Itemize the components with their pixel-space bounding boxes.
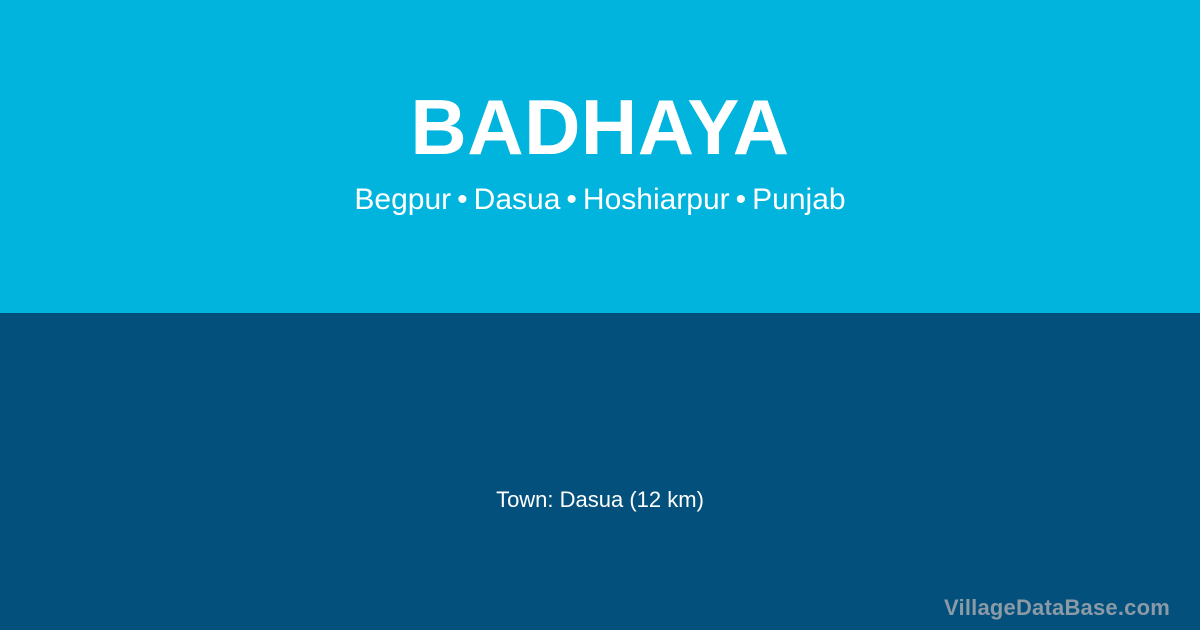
breadcrumb-item-district: Hoshiarpur [583,183,730,216]
breadcrumb: Begpur•Dasua•Hoshiarpur•Punjab [0,182,1200,218]
breadcrumb-separator-2: • [560,183,583,216]
breadcrumb-separator-1: • [451,183,474,216]
breadcrumb-item-block: Begpur [354,183,451,216]
bottom-color-band [0,313,1200,630]
breadcrumb-item-subdistrict: Dasua [474,183,561,216]
breadcrumb-separator-3: • [730,183,753,216]
village-info-card: BADHAYA Begpur•Dasua•Hoshiarpur•Punjab T… [0,0,1200,630]
page-title: BADHAYA [0,79,1200,175]
breadcrumb-item-state: Punjab [752,183,845,216]
site-watermark: VillageDataBase.com [944,594,1170,622]
nearest-town-info: Town: Dasua (12 km) [0,486,1200,514]
